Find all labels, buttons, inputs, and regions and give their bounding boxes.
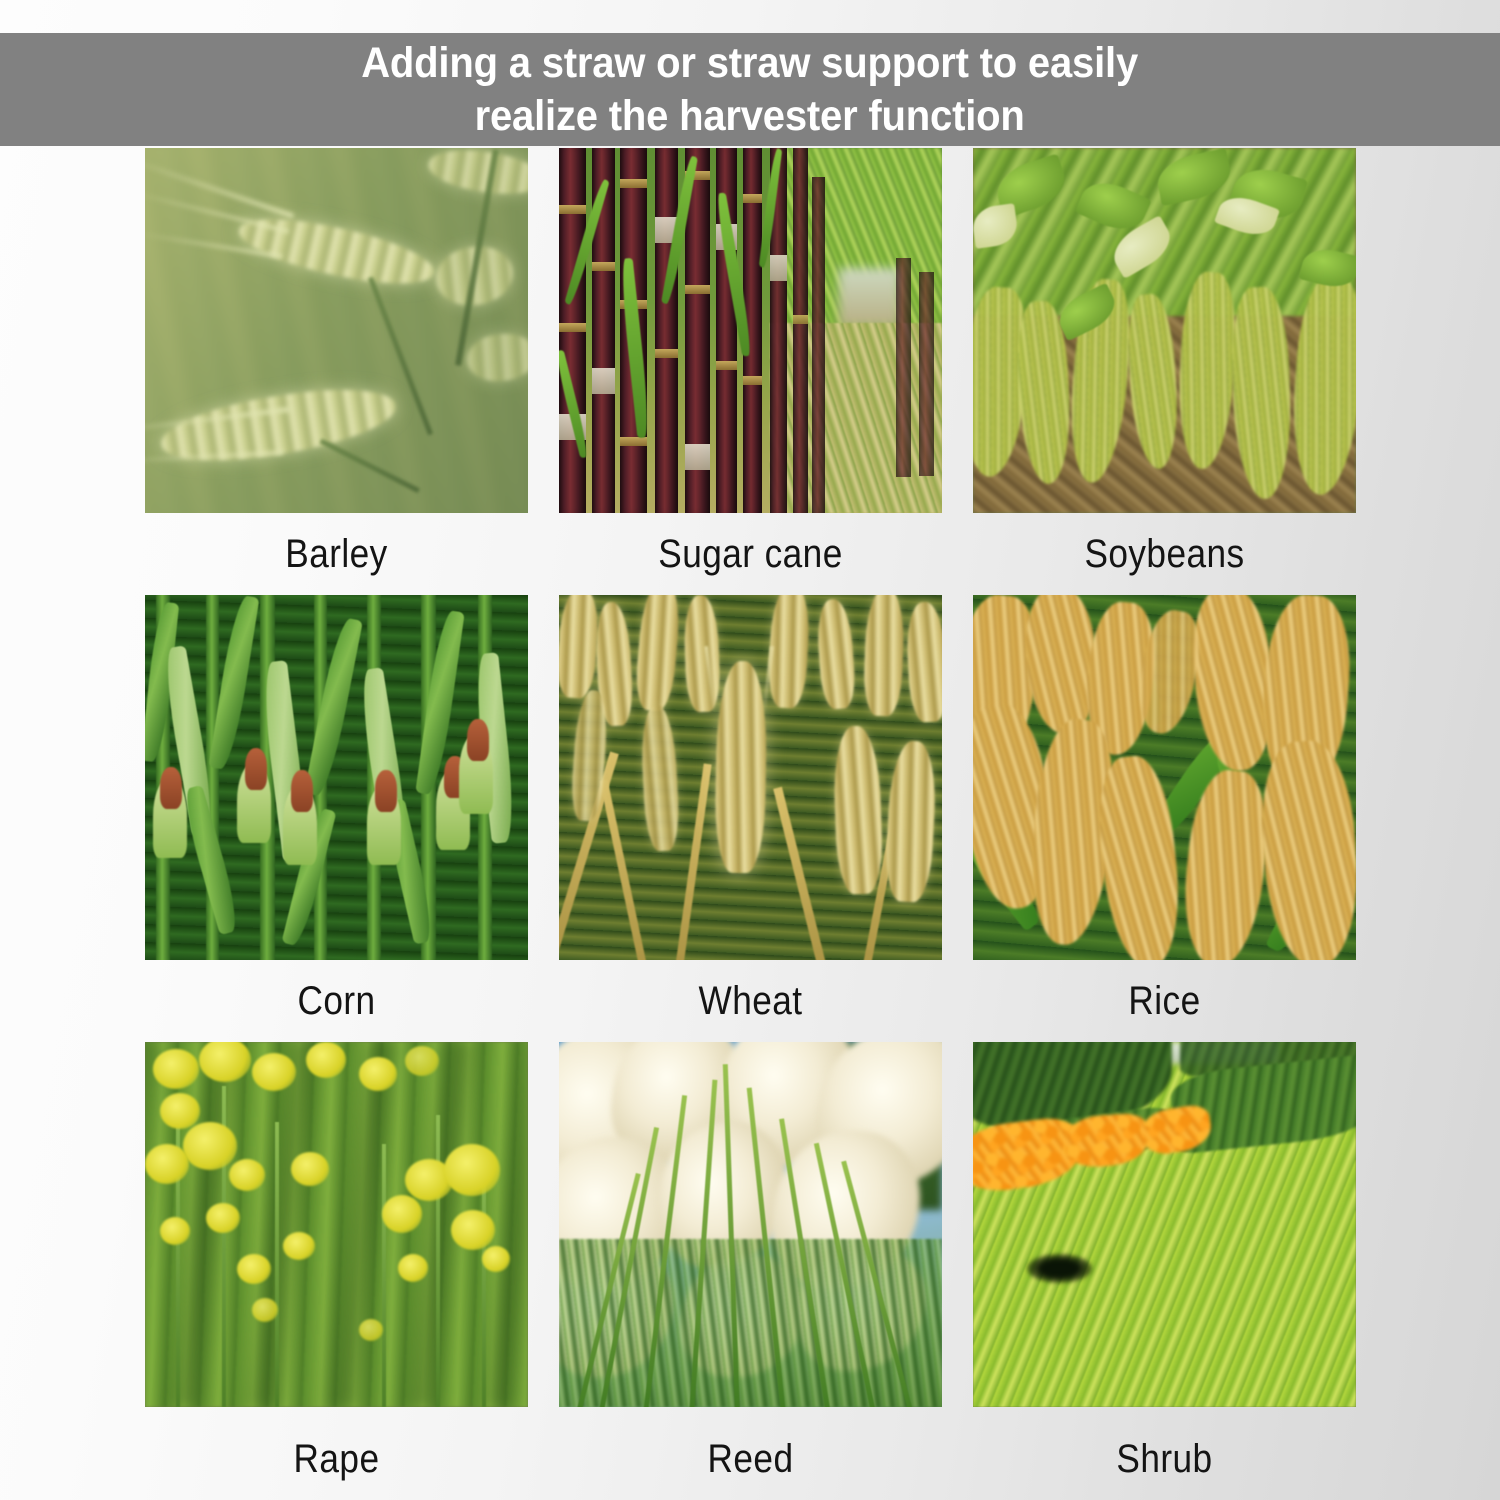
rape-flower-cluster: [206, 1203, 240, 1233]
rape-flower-cluster: [359, 1057, 397, 1091]
rape-flower-cluster: [145, 1144, 189, 1184]
cane-stalk: [896, 258, 911, 477]
reed-photo: [559, 1042, 942, 1407]
cane-node: [559, 205, 586, 214]
cane-node: [685, 285, 710, 294]
rape-flower-cluster: [451, 1210, 495, 1250]
rape-flower-cluster: [306, 1042, 346, 1078]
crop-cell-reed: Reed: [559, 1042, 942, 1499]
corn-silk: [291, 770, 313, 812]
rape-flower-cluster: [237, 1254, 271, 1284]
rape-flower-cluster: [444, 1144, 500, 1196]
sugar-cane-photo: [559, 148, 942, 513]
crop-label: Corn: [168, 960, 505, 1042]
cane-sheath: [770, 255, 787, 281]
headline-text: Adding a straw or straw support to easil…: [362, 37, 1139, 142]
cane-sheath: [592, 368, 615, 394]
corn-silk: [375, 770, 397, 812]
headline-banner: Adding a straw or straw support to easil…: [0, 33, 1500, 146]
crop-label: Rape: [168, 1407, 505, 1499]
crop-cell-rape: Rape: [145, 1042, 528, 1499]
rape-flower-cluster: [229, 1159, 265, 1191]
rape-flower-cluster: [252, 1298, 278, 1322]
cane-node: [743, 194, 762, 203]
corn-silk: [467, 719, 489, 761]
cane-node: [620, 179, 647, 188]
crop-cell-shrub: Shrub: [973, 1042, 1356, 1499]
corn-silk: [245, 748, 267, 790]
crop-gallery-grid: Barley: [145, 148, 1356, 1499]
rice-photo: [973, 595, 1356, 960]
cane-stalk: [655, 148, 678, 513]
barley-photo: [145, 148, 528, 513]
crop-label: Sugar cane: [582, 513, 919, 595]
crop-label: Shrub: [996, 1407, 1333, 1499]
crop-cell-soybeans: Soybeans: [973, 148, 1356, 595]
crop-label: Barley: [168, 513, 505, 595]
crop-cell-rice: Rice: [973, 595, 1356, 1042]
cane-node: [716, 361, 737, 370]
soybeans-photo: [973, 148, 1356, 513]
rape-flower-cluster: [153, 1049, 199, 1089]
cane-stalk: [559, 148, 586, 513]
shrub-photo: [973, 1042, 1356, 1407]
wheat-photo: [559, 595, 942, 960]
rape-flower-cluster: [283, 1232, 315, 1260]
rape-flower-cluster: [252, 1053, 296, 1091]
crop-label: Rice: [996, 960, 1333, 1042]
shrub-gap-shadow: [1027, 1254, 1092, 1283]
rape-flower-cluster: [398, 1254, 428, 1282]
corn-silk: [160, 767, 182, 809]
cane-node: [743, 376, 762, 385]
crop-label: Soybeans: [996, 513, 1333, 595]
crop-cell-sugar-cane: Sugar cane: [559, 148, 942, 595]
cane-horizon: [839, 268, 900, 326]
cane-node: [793, 315, 808, 324]
crop-label: Wheat: [582, 960, 919, 1042]
crop-cell-corn: Corn: [145, 595, 528, 1042]
corn-photo: [145, 595, 528, 960]
cane-stalk: [812, 177, 825, 513]
product-feature-image: Adding a straw or straw support to easil…: [0, 0, 1500, 1500]
cane-node: [620, 437, 647, 446]
rape-flower-cluster: [291, 1152, 329, 1186]
cane-node: [655, 349, 678, 358]
cane-stalk: [793, 148, 808, 513]
rape-flower-cluster: [405, 1046, 439, 1076]
crop-cell-barley: Barley: [145, 148, 528, 595]
rape-stem: [436, 1115, 440, 1407]
rape-photo: [145, 1042, 528, 1407]
rape-stem: [275, 1122, 279, 1407]
cane-sheath: [685, 444, 710, 470]
crop-label: Reed: [582, 1407, 919, 1499]
cane-node: [559, 323, 586, 332]
cane-node: [592, 262, 615, 271]
cane-stalk: [919, 272, 934, 476]
rape-stem: [382, 1144, 386, 1407]
crop-cell-wheat: Wheat: [559, 595, 942, 1042]
wheat-ear-foreground: [714, 660, 767, 873]
